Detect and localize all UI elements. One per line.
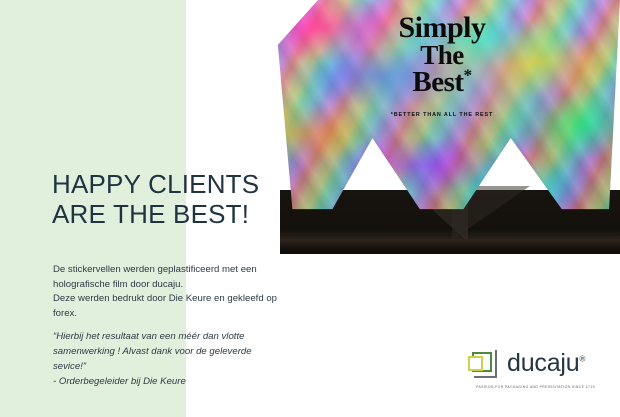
headline-line-2: ARE THE BEST! (52, 199, 352, 229)
quote-line-3: sevice!” (53, 360, 353, 375)
bracket-vertical-shape (495, 350, 497, 378)
marketing-slide: Simply The Best* *BETTER THAN ALL THE RE… (0, 0, 620, 417)
quote-line-2: samenwerking ! Alvast dank voor de gelev… (53, 345, 353, 360)
ducaju-logo: ducaju® PASSION FOR PACKAGING AND PRESEN… (466, 348, 602, 396)
logo-wordmark: ducaju® (507, 348, 585, 378)
body-copy: De stickervellen werden geplastificeerd … (53, 263, 353, 321)
logo-wordmark-text: ducaju (507, 349, 579, 377)
testimonial-quote: “Hierbij het resultaat van een méér dan … (53, 330, 353, 390)
inner-square-shape (468, 356, 483, 371)
nested-squares-icon (466, 350, 504, 384)
body-line-3: Deze werden bedrukt door Die Keure en ge… (53, 292, 353, 307)
body-line-2: holografische film door ducaju. (53, 278, 353, 293)
bracket-horizontal-shape (474, 376, 497, 378)
body-line-1: De stickervellen werden geplastificeerd … (53, 263, 353, 278)
quote-attribution: - Orderbegeleider bij Die Keure (53, 375, 353, 390)
body-line-4: forex. (53, 307, 353, 322)
quote-line-1: “Hierbij het resultaat van een méér dan … (53, 330, 353, 345)
page-title: HAPPY CLIENTS ARE THE BEST! (52, 169, 352, 230)
display-base-front-edge (280, 239, 620, 254)
registered-trademark-icon: ® (579, 355, 585, 364)
headline-line-1: HAPPY CLIENTS (52, 169, 352, 199)
logo-tagline: PASSION FOR PACKAGING AND PRESENTATION S… (469, 385, 602, 389)
